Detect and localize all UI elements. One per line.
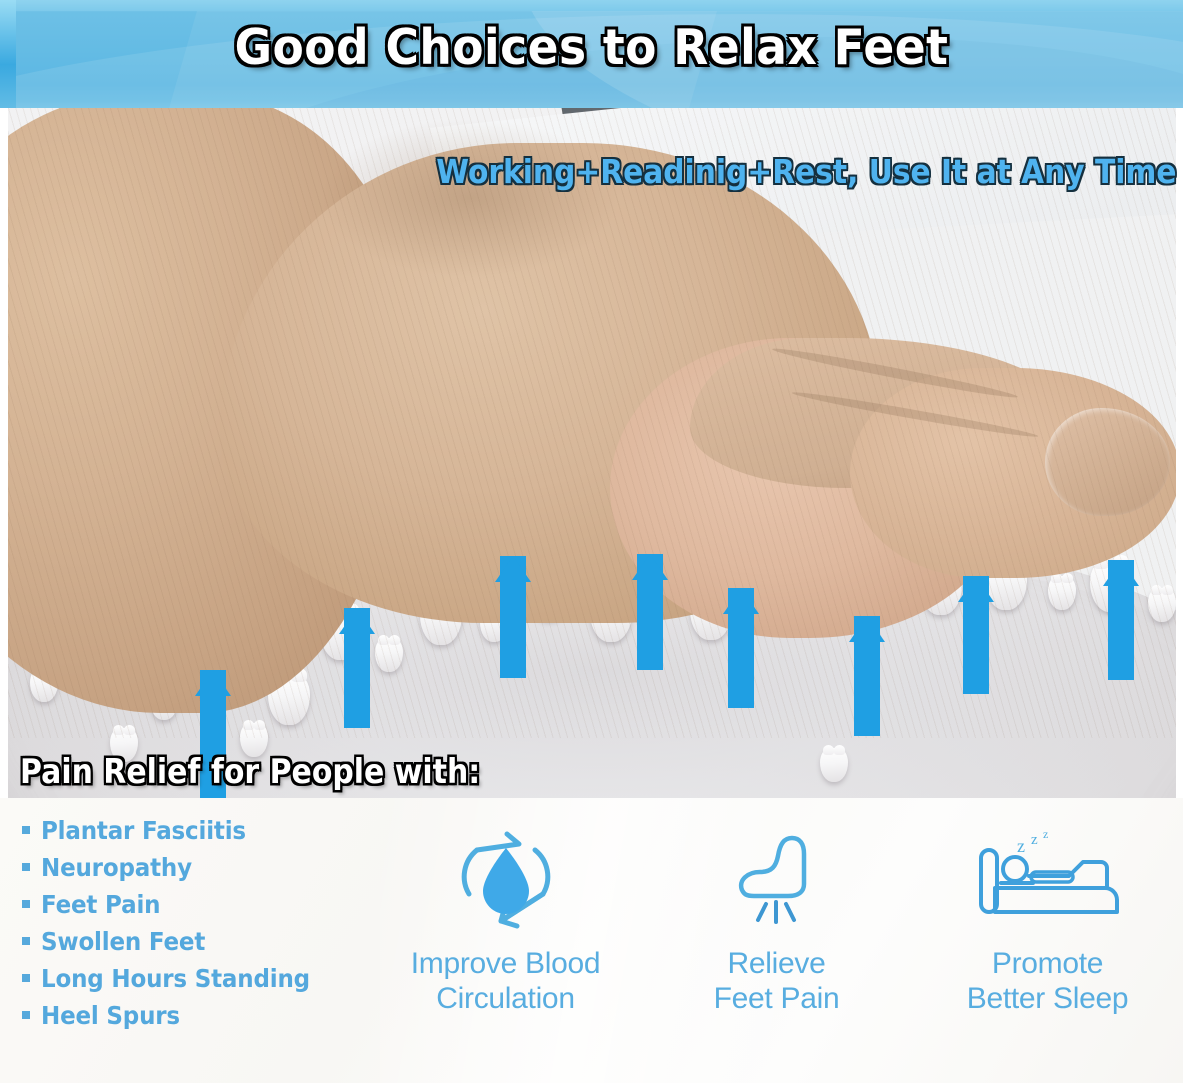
photo-right-border — [1176, 108, 1183, 798]
photo-left-border — [0, 108, 8, 798]
benefit-label: Relieve Feet Pain — [652, 946, 902, 1016]
benefit-promote-better-sleep: z z z Promote Better Sleep — [923, 826, 1173, 1016]
foot-pain-icon — [652, 826, 902, 938]
svg-text:z: z — [1031, 832, 1038, 848]
benefit-label-line1: Promote — [923, 946, 1173, 981]
list-item: Feet Pain — [22, 890, 382, 919]
benefit-label: Improve Blood Circulation — [381, 946, 631, 1016]
arrow-head — [195, 670, 231, 696]
svg-text:z: z — [1017, 836, 1025, 856]
bullet-square-icon — [22, 1011, 30, 1019]
arrow-head — [339, 608, 375, 634]
list-item: Heel Spurs — [22, 1001, 382, 1030]
banner-left-edge — [0, 0, 16, 108]
arrow-head — [632, 554, 668, 580]
bullet-square-icon — [22, 900, 30, 908]
condition-label: Swollen Feet — [41, 927, 205, 956]
arrow-head — [849, 616, 885, 642]
benefit-label-line2: Better Sleep — [923, 981, 1173, 1016]
arrow-head — [495, 556, 531, 582]
up-arrow-icon — [344, 608, 370, 728]
up-arrow-icon — [500, 556, 526, 678]
pain-relief-heading: Pain Relief for People with: — [20, 752, 480, 792]
condition-label: Heel Spurs — [41, 1001, 180, 1030]
up-arrow-icon — [963, 576, 989, 694]
arrow-head — [723, 588, 759, 614]
condition-label: Long Hours Standing — [41, 964, 310, 993]
photo-subtitle: Working+Readinig+Rest, Use It at Any Tim… — [437, 152, 1177, 191]
arrow-shaft — [1113, 584, 1130, 680]
product-photo — [0, 108, 1183, 798]
person-sleeping-in-bed-icon: z z z — [923, 826, 1173, 938]
foot-skin-texture — [0, 108, 1180, 738]
list-item: Plantar Fasciitis — [22, 816, 382, 845]
benefit-label-line1: Improve Blood — [381, 946, 631, 981]
list-item: Swollen Feet — [22, 927, 382, 956]
header-banner: Good Choices to Relax Feet — [0, 0, 1183, 108]
arrow-shaft — [968, 600, 985, 694]
svg-text:z: z — [1043, 828, 1048, 841]
benefit-label: Promote Better Sleep — [923, 946, 1173, 1016]
arrow-shaft — [349, 632, 366, 728]
up-arrow-icon — [637, 554, 663, 670]
product-infographic: Good Choices to Relax Feet — [0, 0, 1183, 1083]
list-item: Long Hours Standing — [22, 964, 382, 993]
bullet-square-icon — [22, 826, 30, 834]
arrow-shaft — [733, 612, 750, 708]
benefit-improve-blood-circulation: Improve Blood Circulation — [381, 826, 631, 1016]
bullet-square-icon — [22, 863, 30, 871]
banner-top-strip — [0, 0, 1183, 11]
up-arrow-icon — [1108, 560, 1134, 680]
condition-label: Feet Pain — [41, 890, 160, 919]
condition-label: Plantar Fasciitis — [41, 816, 246, 845]
arrow-head — [1103, 560, 1139, 586]
page-title: Good Choices to Relax Feet — [41, 19, 1141, 76]
condition-label: Neuropathy — [41, 853, 192, 882]
arrow-shaft — [642, 578, 659, 670]
foot-illustration — [0, 108, 1180, 738]
up-arrow-icon — [854, 616, 880, 736]
arrow-shaft — [505, 580, 522, 678]
water-drop-circulation-icon — [381, 826, 631, 938]
benefit-label-line2: Circulation — [381, 981, 631, 1016]
benefits-section: Plantar Fasciitis Neuropathy Feet Pain S… — [0, 798, 1183, 1083]
benefit-label-line1: Relieve — [652, 946, 902, 981]
benefit-relieve-feet-pain: Relieve Feet Pain — [652, 826, 902, 1016]
arrow-head — [958, 576, 994, 602]
bullet-square-icon — [22, 937, 30, 945]
up-arrow-icon — [728, 588, 754, 708]
list-item: Neuropathy — [22, 853, 382, 882]
bullet-square-icon — [22, 974, 30, 982]
benefit-label-line2: Feet Pain — [652, 981, 902, 1016]
benefit-icons-row: Improve Blood Circulation Relieve Feet P… — [370, 826, 1183, 1016]
conditions-list: Plantar Fasciitis Neuropathy Feet Pain S… — [22, 816, 382, 1038]
arrow-shaft — [859, 640, 876, 736]
